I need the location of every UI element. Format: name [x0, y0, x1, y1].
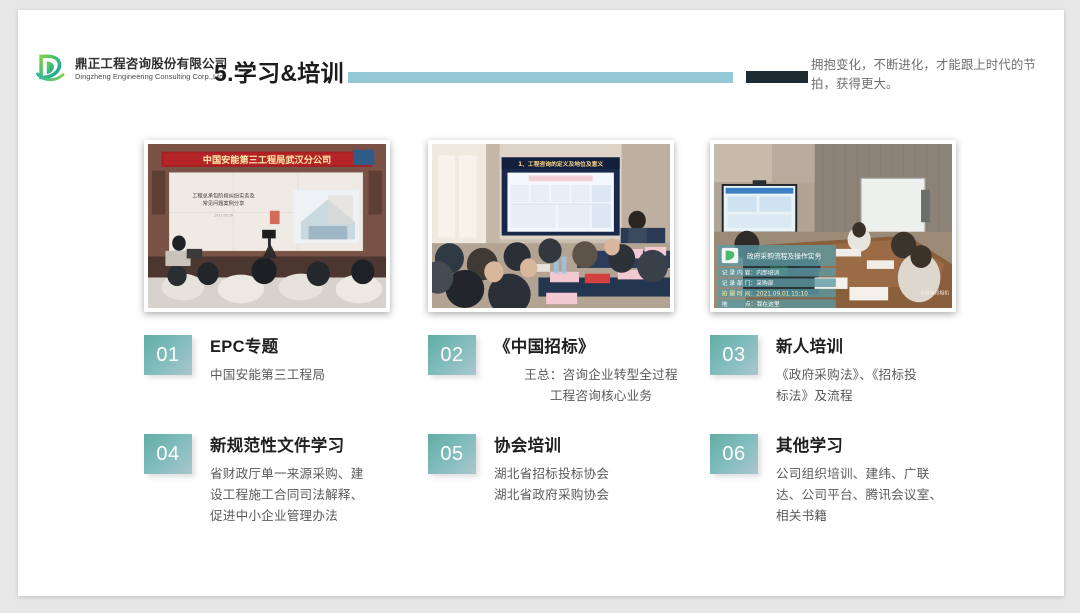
- training-item-grid: 01 EPC专题 中国安能第三工程局 02 《中国招标》 王总：咨询企业转型全过…: [18, 10, 1064, 596]
- item-number-badge: 04: [144, 434, 192, 474]
- item-body: 协会培训 湖北省招标投标协会 湖北省政府采购协会: [494, 434, 728, 506]
- item-number-badge: 02: [428, 335, 476, 375]
- item-description: 王总：咨询企业转型全过程 工程咨询核心业务: [494, 365, 708, 407]
- item-number-badge: 01: [144, 335, 192, 375]
- item-description: 湖北省招标投标协会 湖北省政府采购协会: [494, 464, 708, 506]
- item-number-badge: 05: [428, 434, 476, 474]
- item-title: 新规范性文件学习: [210, 435, 444, 457]
- item-body: 《中国招标》 王总：咨询企业转型全过程 工程咨询核心业务: [494, 335, 728, 407]
- item-body: 新人培训 《政府采购法》、《招标投 标法》及流程: [776, 335, 1010, 407]
- item-description: 《政府采购法》、《招标投 标法》及流程: [776, 365, 964, 407]
- item-title: EPC专题: [210, 336, 444, 358]
- item-number-badge: 06: [710, 434, 758, 474]
- training-item-03: 03 新人培训 《政府采购法》、《招标投 标法》及流程: [710, 335, 1010, 407]
- training-item-02: 02 《中国招标》 王总：咨询企业转型全过程 工程咨询核心业务: [428, 335, 728, 407]
- item-description: 中国安能第三工程局: [210, 365, 424, 386]
- slide-canvas: 鼎正工程咨询股份有限公司 Dingzheng Engineering Consu…: [18, 10, 1064, 596]
- training-item-06: 06 其他学习 公司组织培训、建纬、广联 达、公司平台、腾讯会议室、 相关书籍: [710, 434, 1010, 527]
- item-body: 其他学习 公司组织培训、建纬、广联 达、公司平台、腾讯会议室、 相关书籍: [776, 434, 1010, 527]
- item-body: EPC专题 中国安能第三工程局: [210, 335, 444, 386]
- training-item-05: 05 协会培训 湖北省招标投标协会 湖北省政府采购协会: [428, 434, 728, 506]
- item-number-badge: 03: [710, 335, 758, 375]
- item-description: 省财政厅单一来源采购、建 设工程施工合同司法解释、 促进中小企业管理办法: [210, 464, 438, 527]
- item-body: 新规范性文件学习 省财政厅单一来源采购、建 设工程施工合同司法解释、 促进中小企…: [210, 434, 444, 527]
- training-item-01: 01 EPC专题 中国安能第三工程局: [144, 335, 444, 386]
- item-title: 新人培训: [776, 336, 1010, 358]
- training-item-04: 04 新规范性文件学习 省财政厅单一来源采购、建 设工程施工合同司法解释、 促进…: [144, 434, 444, 527]
- item-title: 其他学习: [776, 435, 1010, 457]
- item-title: 《中国招标》: [494, 336, 728, 358]
- item-description: 公司组织培训、建纬、广联 达、公司平台、腾讯会议室、 相关书籍: [776, 464, 1004, 527]
- item-title: 协会培训: [494, 435, 728, 457]
